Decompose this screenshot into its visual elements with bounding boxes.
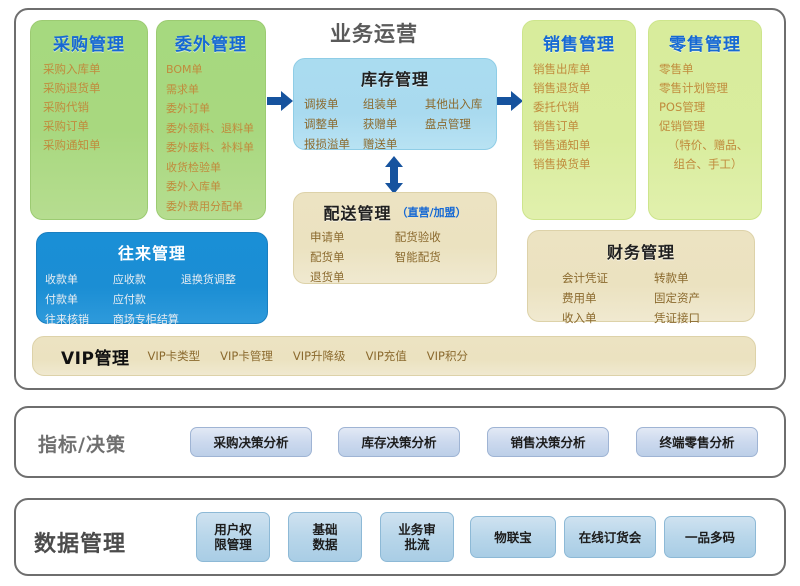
card-outsourcing-management[interactable]: 委外管理 BOM单 需求单 委外订单 委外领料、退料单 委外废料、补料单 收货检… bbox=[156, 20, 266, 220]
pill-inventory-decision-analysis[interactable]: 库存决策分析 bbox=[338, 427, 460, 457]
card-purchase-title: 采购管理 bbox=[31, 30, 147, 55]
pill-line-2: 限管理 bbox=[214, 537, 252, 552]
list-item[interactable]: 销售订单 bbox=[533, 117, 635, 136]
list-item[interactable]: 委外入库单 bbox=[166, 177, 265, 197]
list-item[interactable]: VIP卡管理 bbox=[220, 347, 273, 366]
card-vip-items: VIP卡类型 VIP卡管理 VIP升降级 VIP充值 VIP积分 bbox=[147, 347, 468, 366]
list-item bbox=[425, 135, 490, 154]
retail-note-line-1: （特价、赠品、 bbox=[659, 136, 761, 155]
pill-purchase-decision-analysis[interactable]: 采购决策分析 bbox=[190, 427, 312, 457]
pill-sales-decision-analysis[interactable]: 销售决策分析 bbox=[487, 427, 609, 457]
card-delivery-items: 申请单 配货验收 配货单 智能配货 退货单 bbox=[294, 228, 496, 287]
pill-line-1: 用户权 bbox=[214, 522, 252, 537]
data-management-label: 数据管理 bbox=[34, 526, 126, 558]
list-item bbox=[395, 268, 488, 287]
list-item[interactable]: 赠送单 bbox=[363, 135, 425, 154]
list-item[interactable]: 收款单 bbox=[45, 270, 113, 289]
pill-business-approval-flow[interactable]: 业务审 批流 bbox=[380, 512, 454, 562]
list-item[interactable]: 采购代销 bbox=[43, 98, 147, 117]
pill-line-2: 批流 bbox=[404, 537, 429, 552]
card-inventory-management[interactable]: 库存管理 调拨单 组装单 其他出入库 调整单 获赠单 盘点管理 报损溢单 赠送单 bbox=[293, 58, 497, 150]
list-item[interactable]: 销售换货单 bbox=[533, 155, 635, 174]
list-item[interactable]: 组装单 bbox=[363, 95, 425, 114]
list-item[interactable]: 采购退货单 bbox=[43, 79, 147, 98]
card-delivery-subtitle: （直营/加盟） bbox=[396, 204, 466, 220]
list-item[interactable]: 委外废料、补料单 bbox=[166, 138, 265, 158]
list-item[interactable]: 零售计划管理 bbox=[659, 79, 761, 98]
list-item[interactable]: VIP积分 bbox=[427, 347, 468, 366]
list-item[interactable]: 采购入库单 bbox=[43, 60, 147, 79]
list-item[interactable]: 促销管理 bbox=[659, 117, 761, 136]
list-item[interactable]: 凭证接口 bbox=[654, 309, 746, 328]
card-inventory-items: 调拨单 组装单 其他出入库 调整单 获赠单 盘点管理 报损溢单 赠送单 bbox=[294, 95, 496, 154]
list-item[interactable]: 销售出库单 bbox=[533, 60, 635, 79]
list-item[interactable]: 获赠单 bbox=[363, 115, 425, 134]
list-item[interactable]: 调整单 bbox=[304, 115, 363, 134]
list-item[interactable]: VIP充值 bbox=[366, 347, 407, 366]
list-item[interactable]: 会计凭证 bbox=[562, 269, 654, 288]
pill-iot-treasure[interactable]: 物联宝 bbox=[470, 516, 556, 558]
list-item[interactable]: 委外领料、退料单 bbox=[166, 119, 265, 139]
diagram-canvas: 业务运营 采购管理 采购入库单 采购退货单 采购代销 采购订单 采购通知单 委外… bbox=[0, 0, 800, 586]
card-sales-title: 销售管理 bbox=[523, 30, 635, 55]
arrow-right-icon bbox=[496, 88, 524, 118]
card-purchase-management[interactable]: 采购管理 采购入库单 采购退货单 采购代销 采购订单 采购通知单 bbox=[30, 20, 148, 220]
list-item[interactable]: 采购订单 bbox=[43, 117, 147, 136]
card-delivery-header: 配送管理 （直营/加盟） bbox=[294, 200, 496, 224]
list-item[interactable]: 委托代销 bbox=[533, 98, 635, 117]
card-receivables-title: 往来管理 bbox=[37, 240, 267, 264]
card-receivables-payables-management[interactable]: 往来管理 收款单 应收款 退换货调整 付款单 应付款 往来核销 商场专柜结算 bbox=[36, 232, 268, 324]
pill-terminal-retail-analysis[interactable]: 终端零售分析 bbox=[636, 427, 758, 457]
list-item[interactable]: 采购通知单 bbox=[43, 136, 147, 155]
pill-user-permission-management[interactable]: 用户权 限管理 bbox=[196, 512, 270, 562]
list-item[interactable]: VIP升降级 bbox=[293, 347, 346, 366]
list-item[interactable]: BOM单 bbox=[166, 60, 265, 80]
card-inventory-title: 库存管理 bbox=[294, 66, 496, 90]
list-item[interactable]: 配货单 bbox=[310, 248, 395, 267]
card-vip-title: VIP管理 bbox=[61, 344, 129, 369]
list-item[interactable]: 智能配货 bbox=[395, 248, 488, 267]
list-item[interactable]: POS管理 bbox=[659, 98, 761, 117]
card-delivery-title: 配送管理 bbox=[323, 200, 391, 224]
list-item[interactable]: 应收款 bbox=[113, 270, 181, 289]
list-item[interactable]: 报损溢单 bbox=[304, 135, 363, 154]
card-retail-title: 零售管理 bbox=[649, 30, 761, 55]
list-item[interactable]: 退换货调整 bbox=[181, 270, 259, 289]
list-item bbox=[181, 290, 259, 309]
card-outsourcing-items: BOM单 需求单 委外订单 委外领料、退料单 委外废料、补料单 收货检验单 委外… bbox=[157, 60, 265, 216]
list-item[interactable]: 其他出入库 bbox=[425, 95, 490, 114]
card-sales-items: 销售出库单 销售退货单 委托代销 销售订单 销售通知单 销售换货单 bbox=[523, 60, 635, 174]
list-item[interactable]: 需求单 bbox=[166, 80, 265, 100]
list-item[interactable]: 付款单 bbox=[45, 290, 113, 309]
card-retail-management[interactable]: 零售管理 零售单 零售计划管理 POS管理 促销管理 （特价、赠品、 组合、手工… bbox=[648, 20, 762, 220]
pill-line-2: 数据 bbox=[312, 537, 337, 552]
list-item[interactable]: 调拨单 bbox=[304, 95, 363, 114]
arrow-right-icon bbox=[266, 88, 294, 118]
list-item[interactable]: 委外订单 bbox=[166, 99, 265, 119]
card-finance-title: 财务管理 bbox=[528, 239, 754, 263]
list-item[interactable]: 费用单 bbox=[562, 289, 654, 308]
list-item[interactable]: 往来核销 bbox=[45, 310, 113, 329]
pill-one-product-multi-code[interactable]: 一品多码 bbox=[664, 516, 756, 558]
list-item[interactable]: 盘点管理 bbox=[425, 115, 490, 134]
card-delivery-management[interactable]: 配送管理 （直营/加盟） 申请单 配货验收 配货单 智能配货 退货单 bbox=[293, 192, 497, 284]
pill-line-1: 基础 bbox=[312, 522, 337, 537]
list-item[interactable]: 销售通知单 bbox=[533, 136, 635, 155]
list-item[interactable]: 零售单 bbox=[659, 60, 761, 79]
list-item bbox=[181, 310, 259, 329]
list-item[interactable]: 退货单 bbox=[310, 268, 395, 287]
list-item[interactable]: 申请单 bbox=[310, 228, 395, 247]
card-purchase-items: 采购入库单 采购退货单 采购代销 采购订单 采购通知单 bbox=[31, 60, 147, 155]
retail-note-line-2: 组合、手工） bbox=[659, 155, 761, 174]
card-outsourcing-title: 委外管理 bbox=[157, 30, 265, 55]
card-retail-items: 零售单 零售计划管理 POS管理 促销管理 （特价、赠品、 组合、手工） bbox=[649, 60, 761, 174]
list-item[interactable]: 销售退货单 bbox=[533, 79, 635, 98]
list-item[interactable]: 转款单 bbox=[654, 269, 746, 288]
business-operations-title: 业务运营 bbox=[330, 18, 418, 48]
pill-online-ordering-fair[interactable]: 在线订货会 bbox=[564, 516, 656, 558]
list-item[interactable]: 委外费用分配单 bbox=[166, 197, 265, 217]
kpi-section-label: 指标/决策 bbox=[38, 430, 126, 457]
card-receivables-items: 收款单 应收款 退换货调整 付款单 应付款 往来核销 商场专柜结算 bbox=[37, 270, 267, 329]
list-item[interactable]: 配货验收 bbox=[395, 228, 488, 247]
pill-line-1: 业务审 bbox=[398, 522, 436, 537]
list-item[interactable]: VIP卡类型 bbox=[147, 347, 200, 366]
card-finance-items: 会计凭证 转款单 费用单 固定资产 收入单 凭证接口 bbox=[528, 269, 754, 328]
list-item[interactable]: 商场专柜结算 bbox=[113, 310, 181, 329]
list-item[interactable]: 收入单 bbox=[562, 309, 654, 328]
card-finance-management[interactable]: 财务管理 会计凭证 转款单 费用单 固定资产 收入单 凭证接口 bbox=[527, 230, 755, 322]
list-item[interactable]: 收货检验单 bbox=[166, 158, 265, 178]
card-sales-management[interactable]: 销售管理 销售出库单 销售退货单 委托代销 销售订单 销售通知单 销售换货单 bbox=[522, 20, 636, 220]
card-vip-management[interactable]: VIP管理 VIP卡类型 VIP卡管理 VIP升降级 VIP充值 VIP积分 bbox=[32, 336, 756, 376]
list-item[interactable]: 应付款 bbox=[113, 290, 181, 309]
pill-basic-data[interactable]: 基础 数据 bbox=[288, 512, 362, 562]
list-item[interactable]: 固定资产 bbox=[654, 289, 746, 308]
